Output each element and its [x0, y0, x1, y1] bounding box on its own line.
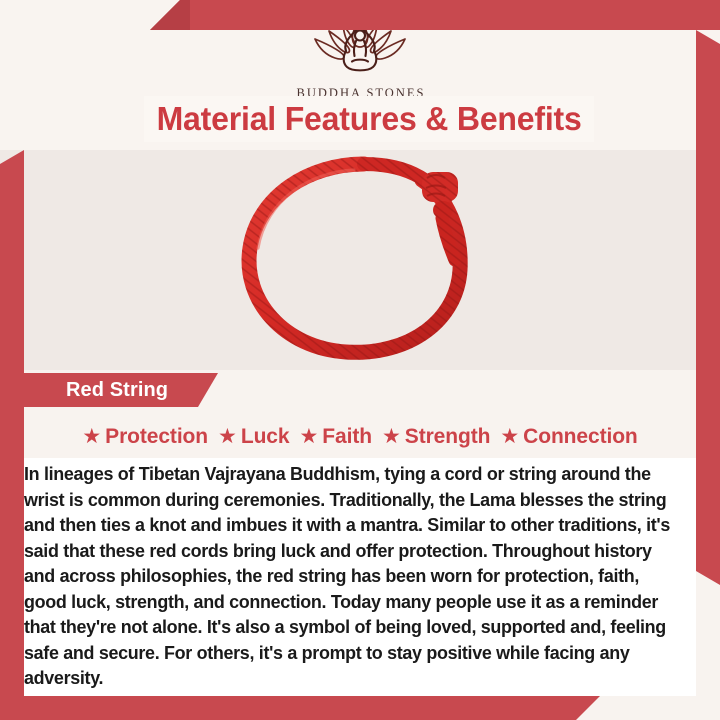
- feature-label: Strength: [405, 425, 491, 449]
- feature-item-strength: ★ Strength: [382, 425, 490, 449]
- feature-item-luck: ★ Luck: [218, 425, 289, 449]
- feature-label: Protection: [105, 425, 208, 449]
- red-string-bracelet-illustration: [214, 144, 506, 379]
- product-label: Red String: [24, 379, 168, 402]
- top-accent-bar: [150, 0, 720, 30]
- product-label-banner: Red String: [24, 373, 218, 407]
- right-accent-bar: [696, 30, 720, 585]
- left-accent-bar: [0, 150, 24, 720]
- star-icon: ★: [500, 426, 519, 447]
- bottom-accent-bar: [0, 696, 600, 720]
- star-icon: ★: [218, 426, 237, 447]
- feature-label: Luck: [241, 425, 290, 449]
- feature-label: Connection: [523, 425, 638, 449]
- description-text: In lineages of Tibetan Vajrayana Buddhis…: [24, 462, 676, 692]
- star-icon: ★: [299, 426, 318, 447]
- feature-item-connection: ★ Connection: [500, 425, 637, 449]
- feature-list: ★ Protection ★ Luck ★ Faith ★ Strength ★…: [24, 420, 696, 454]
- page-title: Material Features & Benefits: [156, 100, 581, 138]
- product-image: [0, 148, 720, 370]
- feature-item-faith: ★ Faith: [299, 425, 372, 449]
- feature-item-protection: ★ Protection: [82, 425, 208, 449]
- description-panel: In lineages of Tibetan Vajrayana Buddhis…: [24, 458, 696, 696]
- infographic-page: BUDDHA STONES Material Features & Benefi…: [0, 0, 720, 720]
- page-title-band: Material Features & Benefits: [144, 96, 594, 142]
- feature-label: Faith: [322, 425, 372, 449]
- star-icon: ★: [82, 426, 101, 447]
- star-icon: ★: [382, 426, 401, 447]
